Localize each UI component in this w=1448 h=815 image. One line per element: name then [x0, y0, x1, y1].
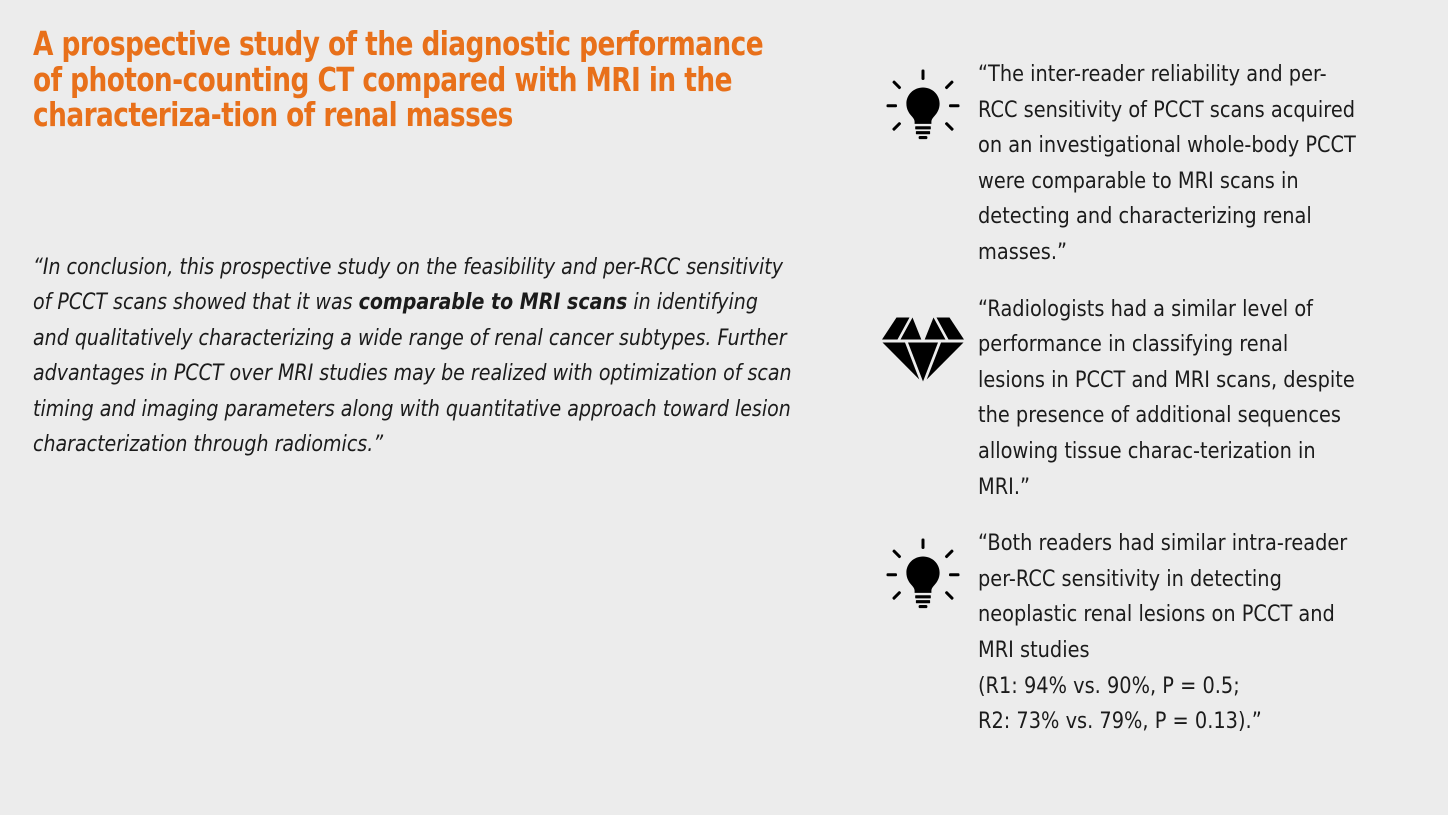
diamond-icon: [868, 295, 978, 383]
graphical-abstract-page: A prospective study of the diagnostic pe…: [0, 0, 1448, 815]
key-point-item: “The inter-reader reliability and per-RC…: [868, 60, 1420, 271]
left-column: A prospective study of the diagnostic pe…: [33, 26, 793, 133]
key-point-text: “The inter-reader reliability and per-RC…: [978, 57, 1358, 271]
conclusion-emphasis: comparable to MRI scans: [359, 289, 628, 315]
lightbulb-icon: [868, 529, 978, 613]
conclusion-text: “In conclusion, this prospective study o…: [33, 250, 794, 462]
key-point-text: “Radiologists had a similar level of per…: [978, 292, 1358, 506]
lightbulb-icon: [868, 60, 978, 144]
key-point-item: “Radiologists had a similar level of per…: [868, 295, 1420, 506]
conclusion-block: “In conclusion, this prospective study o…: [33, 250, 813, 462]
page-title: A prospective study of the diagnostic pe…: [33, 26, 793, 133]
key-points-column: “The inter-reader reliability and per-RC…: [868, 60, 1420, 740]
key-point-item: “Both readers had similar intra-reader p…: [868, 529, 1420, 740]
key-point-text: “Both readers had similar intra-reader p…: [978, 526, 1358, 740]
